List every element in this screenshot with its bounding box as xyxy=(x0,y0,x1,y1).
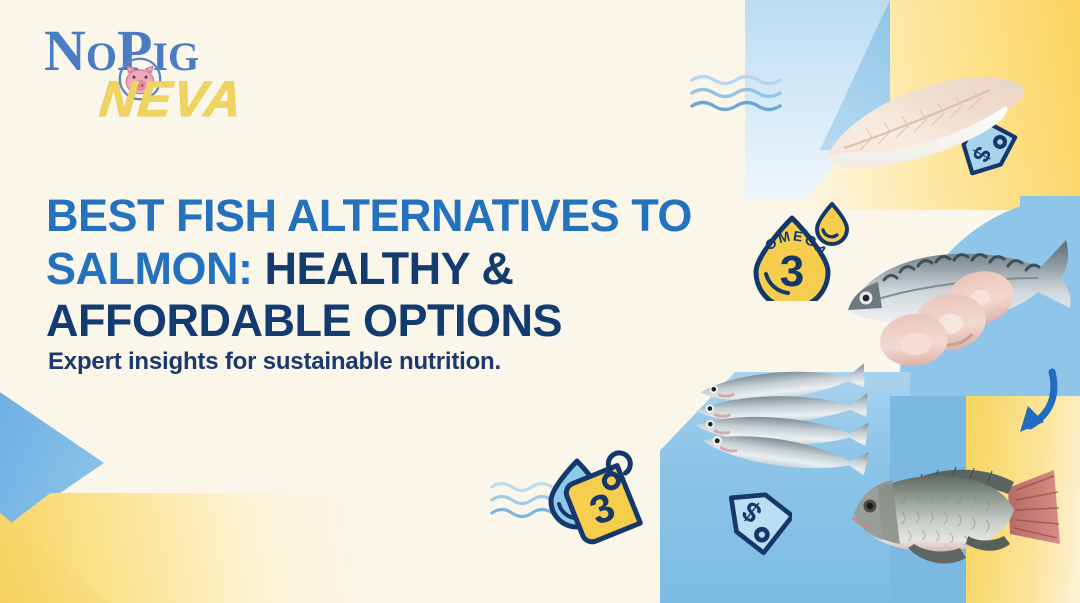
omega-number: 3 xyxy=(780,247,804,296)
tag-three-icon: 3 xyxy=(545,447,660,552)
curved-arrow-icon xyxy=(992,368,1058,440)
brand-logo[interactable]: NOPIG NEVA xyxy=(44,22,264,127)
logo-text-neva: NEVA xyxy=(97,74,245,124)
price-tag-icon: $ xyxy=(712,483,792,561)
wave-lines-icon xyxy=(690,72,800,116)
page-subtitle: Expert insights for sustainable nutritio… xyxy=(48,348,501,376)
page-title: BEST FISH ALTERNATIVES TO SALMON: HEALTH… xyxy=(46,190,746,348)
background-triangle-blue-left xyxy=(0,388,104,538)
mackerel-and-steaks-photo xyxy=(838,212,1076,372)
poster-canvas: NOPIG NEVA BEST FISH ALTERNATIVES TO SAL… xyxy=(0,0,1080,603)
tilapia-photo xyxy=(848,448,1070,578)
white-fish-fillet-photo xyxy=(820,62,1035,172)
background-triangle-yellow-corner xyxy=(0,483,110,603)
logo-letter-n: N xyxy=(44,18,86,83)
background-wedge-yellow-bottom xyxy=(0,493,420,603)
